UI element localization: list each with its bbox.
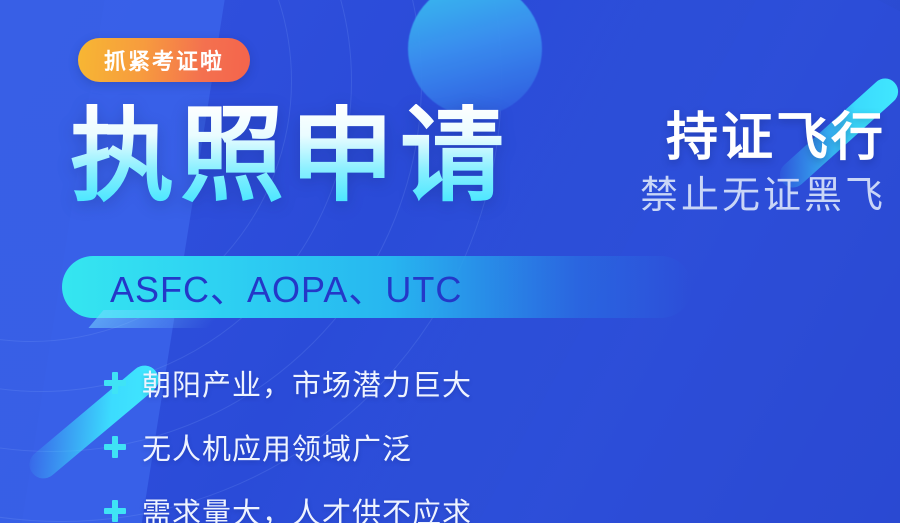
promo-badge: 抓紧考证啦 (78, 38, 250, 82)
slogan-primary: 持证飞行 (640, 110, 886, 166)
slogan-secondary: 禁止无证黑飞 (640, 176, 886, 218)
feature-bullet-list: 朝阳产业，市场潜力巨大 无人机应用领域广泛 需求量大，人才供不应求 (104, 362, 472, 523)
slogan-block: 持证飞行 禁止无证黑飞 (640, 110, 886, 218)
plus-icon (104, 500, 126, 522)
list-item-label: 朝阳产业，市场潜力巨大 (142, 362, 472, 404)
certification-pill-label: ASFC、AOPA、UTC (110, 256, 462, 318)
promo-badge-label: 抓紧考证啦 (104, 44, 224, 76)
plus-icon (104, 372, 126, 394)
list-item: 需求量大，人才供不应求 (104, 490, 472, 523)
promo-banner: 抓紧考证啦 执照申请 持证飞行 禁止无证黑飞 ASFC、AOPA、UTC 朝阳产… (0, 0, 900, 523)
list-item: 无人机应用领域广泛 (104, 426, 472, 468)
plus-icon (104, 436, 126, 458)
list-item: 朝阳产业，市场潜力巨大 (104, 362, 472, 404)
list-item-label: 无人机应用领域广泛 (142, 426, 412, 468)
list-item-label: 需求量大，人才供不应求 (142, 490, 472, 523)
headline-title: 执照申请 (70, 104, 510, 208)
